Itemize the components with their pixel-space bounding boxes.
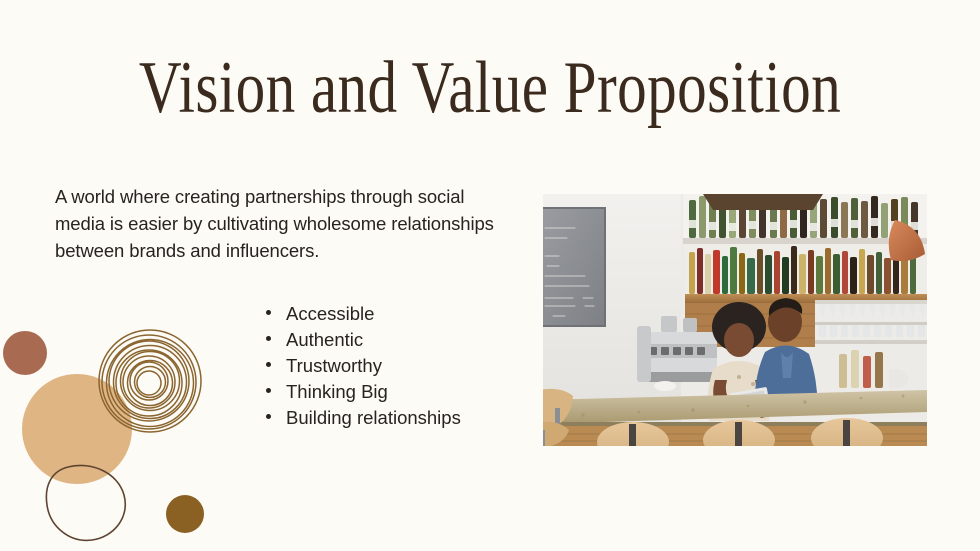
list-item-label: Accessible xyxy=(286,303,374,324)
vision-statement: A world where creating partnerships thro… xyxy=(55,183,510,264)
list-item: Thinking Big xyxy=(262,379,461,405)
decorative-shapes xyxy=(0,321,240,551)
list-item-label: Building relationships xyxy=(286,407,461,428)
list-item-label: Authentic xyxy=(286,329,363,350)
slide-canvas: Vision and Value Proposition A world whe… xyxy=(0,0,980,551)
dark-brown-circle xyxy=(166,495,204,533)
cafe-photo xyxy=(543,194,927,446)
terracotta-circle xyxy=(3,331,47,375)
list-item-label: Trustworthy xyxy=(286,355,382,376)
outline-circle xyxy=(46,465,125,540)
page-title: Vision and Value Proposition xyxy=(98,48,882,128)
bullet-icon xyxy=(266,310,271,315)
bullet-icon xyxy=(266,388,271,393)
list-item: Accessible xyxy=(262,301,461,327)
bullet-icon xyxy=(266,362,271,367)
tan-circle xyxy=(22,374,132,484)
list-item: Building relationships xyxy=(262,405,461,431)
list-item-label: Thinking Big xyxy=(286,381,388,402)
spiral-rings xyxy=(99,330,201,432)
chalkboard xyxy=(543,208,605,326)
bullet-icon xyxy=(266,414,271,419)
values-list: Accessible Authentic Trustworthy Thinkin… xyxy=(262,301,461,431)
bullet-icon xyxy=(266,336,271,341)
list-item: Trustworthy xyxy=(262,353,461,379)
list-item: Authentic xyxy=(262,327,461,353)
